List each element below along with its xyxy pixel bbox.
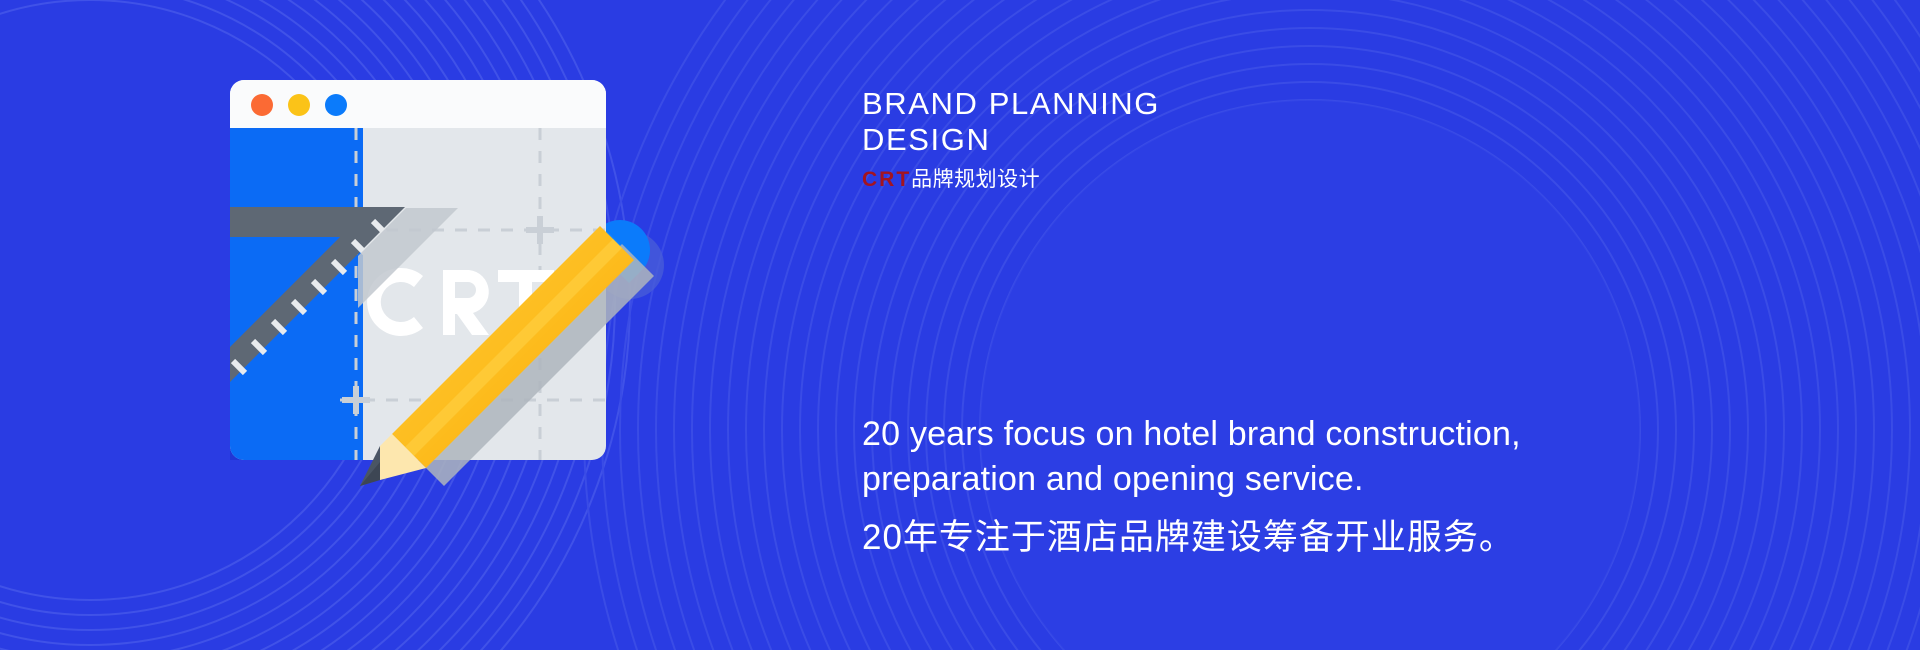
headline-block: BRAND PLANNING DESIGN CRT品牌规划设计 — [862, 86, 1562, 192]
tagline-chinese: 20年专注于酒店品牌建设筹备开业服务。 — [862, 515, 1742, 560]
crt-wordmark: CRT — [862, 168, 911, 191]
subtitle-chinese: 品牌规划设计 — [911, 168, 1040, 191]
minimize-dot — [288, 94, 310, 116]
tagline-english: 20 years focus on hotel brand constructi… — [862, 412, 1742, 502]
design-workspace-illustration — [230, 80, 690, 560]
headline-text: BRAND PLANNING DESIGN — [862, 86, 1562, 158]
brand-banner: BRAND PLANNING DESIGN CRT品牌规划设计 20 years… — [0, 0, 1920, 650]
subtitle-line: CRT品牌规划设计 — [862, 167, 1562, 192]
tagline-block: 20 years focus on hotel brand constructi… — [862, 412, 1742, 560]
close-dot — [251, 94, 273, 116]
window-titlebar — [230, 80, 606, 128]
maximize-dot — [325, 94, 347, 116]
